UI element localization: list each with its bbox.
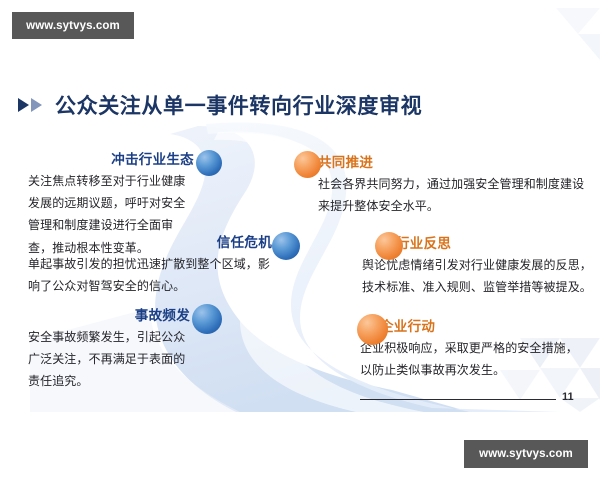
marker-sphere-orange-3 [357, 314, 388, 345]
page-title: 公众关注从单一事件转向行业深度审视 [55, 90, 422, 120]
content-block-right-2: 行业反思 舆论忧虑情绪引发对行业健康发展的反思，技术标准、准入规则、监管举措等被… [396, 232, 594, 298]
watermark-top: www.sytvys.com [12, 12, 134, 39]
block-body-right-3: 企业积极响应，采取更严格的安全措施，以防止类似事故再次发生。 [360, 337, 582, 381]
block-body-right-2: 舆论忧虑情绪引发对行业健康发展的反思，技术标准、准入规则、监管举措等被提及。 [362, 254, 594, 298]
content-block-left-2: 信任危机 单起事故引发的担忧迅速扩散到整个区域，影响了公众对智驾安全的信心。 [28, 231, 272, 297]
block-heading-row: 企业行动 [380, 315, 594, 335]
content-block-left-3: 事故频发 安全事故频繁发生，引起公众广泛关注，不再满足于表面的责任追究。 [28, 304, 190, 393]
block-body-left-3: 安全事故频繁发生，引起公众广泛关注，不再满足于表面的责任追究。 [28, 326, 190, 393]
block-title-right-1: 共同推进 [318, 151, 373, 171]
double-chevron-icon [18, 97, 46, 113]
marker-sphere-blue-1 [196, 150, 222, 176]
block-heading-row: 事故频发 [28, 304, 190, 324]
corner-facets-top [556, 8, 600, 60]
block-title-left-3: 事故频发 [135, 304, 190, 324]
content-block-right-3: 企业行动 企业积极响应，采取更严格的安全措施，以防止类似事故再次发生。 [380, 315, 594, 381]
page-title-row: 公众关注从单一事件转向行业深度审视 [18, 90, 422, 120]
footer-divider [360, 399, 556, 400]
page-number: 11 [562, 391, 574, 403]
block-body-right-1: 社会各界共同努力，通过加强安全管理和制度建设来提升整体安全水平。 [318, 173, 590, 217]
block-heading-row: 冲击行业生态 [28, 148, 194, 168]
block-title-right-2: 行业反思 [396, 232, 451, 252]
block-title-left-2: 信任危机 [217, 231, 272, 251]
slide-page: 公众关注从单一事件转向行业深度审视 冲击行业生态 关注焦点转移至对于行业健康发展… [0, 8, 600, 412]
marker-sphere-blue-3 [192, 304, 222, 334]
block-heading-row: 信任危机 [28, 231, 272, 251]
content-block-right-1: 共同推进 社会各界共同努力，通过加强安全管理和制度建设来提升整体安全水平。 [318, 151, 590, 217]
block-title-left-1: 冲击行业生态 [111, 148, 194, 168]
block-title-right-3: 企业行动 [380, 315, 435, 335]
block-heading-row: 共同推进 [318, 151, 590, 171]
block-heading-row: 行业反思 [396, 232, 594, 252]
marker-sphere-blue-2 [272, 232, 300, 260]
block-body-left-2: 单起事故引发的担忧迅速扩散到整个区域，影响了公众对智驾安全的信心。 [28, 253, 272, 297]
marker-sphere-orange-1 [294, 151, 321, 178]
watermark-bottom: www.sytvys.com [464, 440, 588, 468]
marker-sphere-orange-2 [375, 232, 403, 260]
slide-canvas: 公众关注从单一事件转向行业深度审视 冲击行业生态 关注焦点转移至对于行业健康发展… [0, 0, 600, 480]
